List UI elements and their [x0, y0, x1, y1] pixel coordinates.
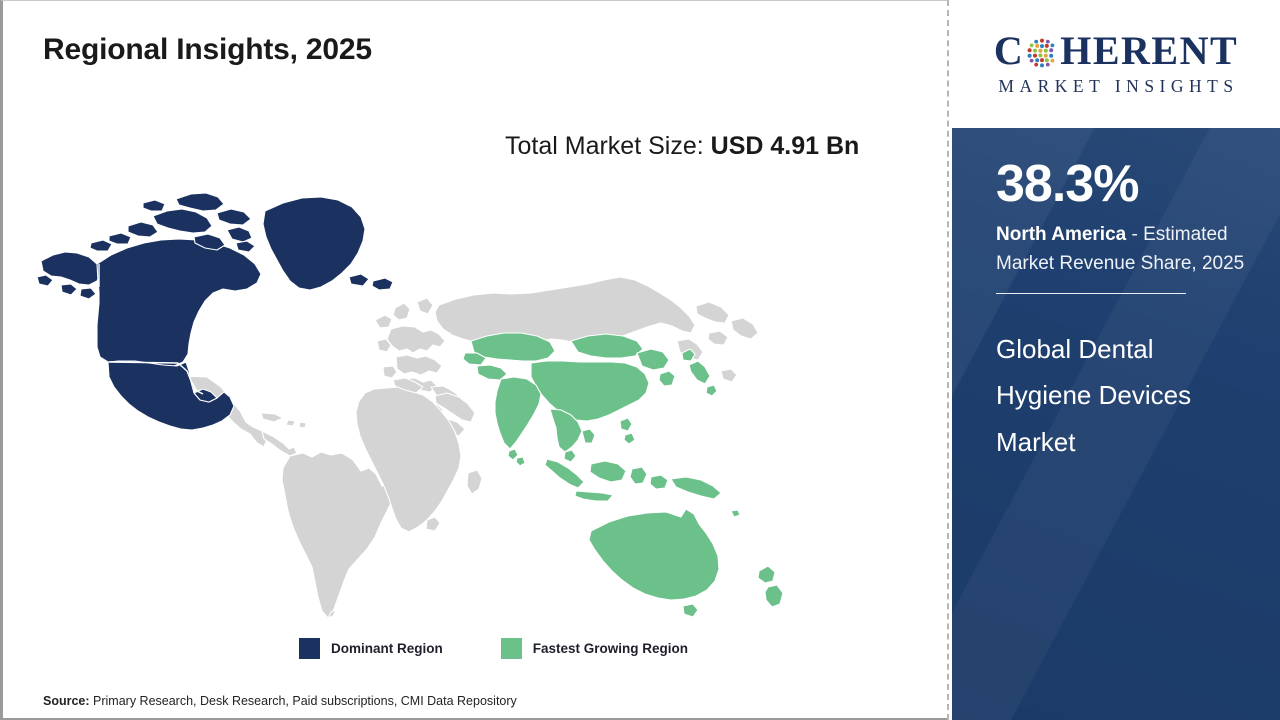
brand-logo-wordmark: C [966, 31, 1266, 71]
brand-logo-letters-herent: HERENT [1060, 31, 1238, 71]
market-share-percentage: 38.3% [996, 158, 1138, 210]
brand-logo-tagline: MARKET INSIGHTS [966, 76, 1266, 97]
legend-label-dominant: Dominant Region [331, 641, 443, 656]
source-text: Primary Research, Desk Research, Paid su… [93, 694, 517, 708]
brand-logo-area: C [952, 0, 1280, 128]
regional-insights-infographic: Regional Insights, 2025 Total Market Siz… [0, 0, 1280, 720]
total-market-size: Total Market Size: USD 4.91 Bn [505, 127, 897, 166]
legend-swatch-fastest-growing-icon [501, 638, 522, 659]
world-map [31, 181, 831, 621]
brand-logo: C [966, 31, 1266, 97]
source-note: Source: Primary Research, Desk Research,… [43, 694, 517, 708]
legend-label-fastest-growing: Fastest Growing Region [533, 641, 688, 656]
source-label: Source: [43, 694, 93, 708]
brand-logo-letter-c: C [994, 31, 1024, 71]
map-legend: Dominant Region Fastest Growing Region [299, 638, 688, 659]
legend-item-dominant: Dominant Region [299, 638, 443, 659]
globe-dots-icon [1025, 36, 1059, 70]
legend-item-fastest-growing: Fastest Growing Region [501, 638, 688, 659]
page-title: Regional Insights, 2025 [43, 33, 372, 67]
vertical-dashed-divider [947, 0, 949, 720]
stats-panel: 38.3% North America - Estimated Market R… [952, 128, 1280, 720]
market-size-value: USD 4.91 Bn [711, 132, 860, 160]
panel-divider-rule [996, 293, 1186, 294]
dominant-region-name: North America [996, 224, 1126, 245]
market-share-description: North America - Estimated Market Revenue… [996, 221, 1266, 279]
market-report-title: Global Dental Hygiene Devices Market [996, 326, 1256, 465]
legend-swatch-dominant-icon [299, 638, 320, 659]
market-size-label: Total Market Size: [505, 132, 711, 160]
world-map-svg [31, 181, 831, 621]
left-content-pane: Regional Insights, 2025 Total Market Siz… [0, 0, 948, 720]
